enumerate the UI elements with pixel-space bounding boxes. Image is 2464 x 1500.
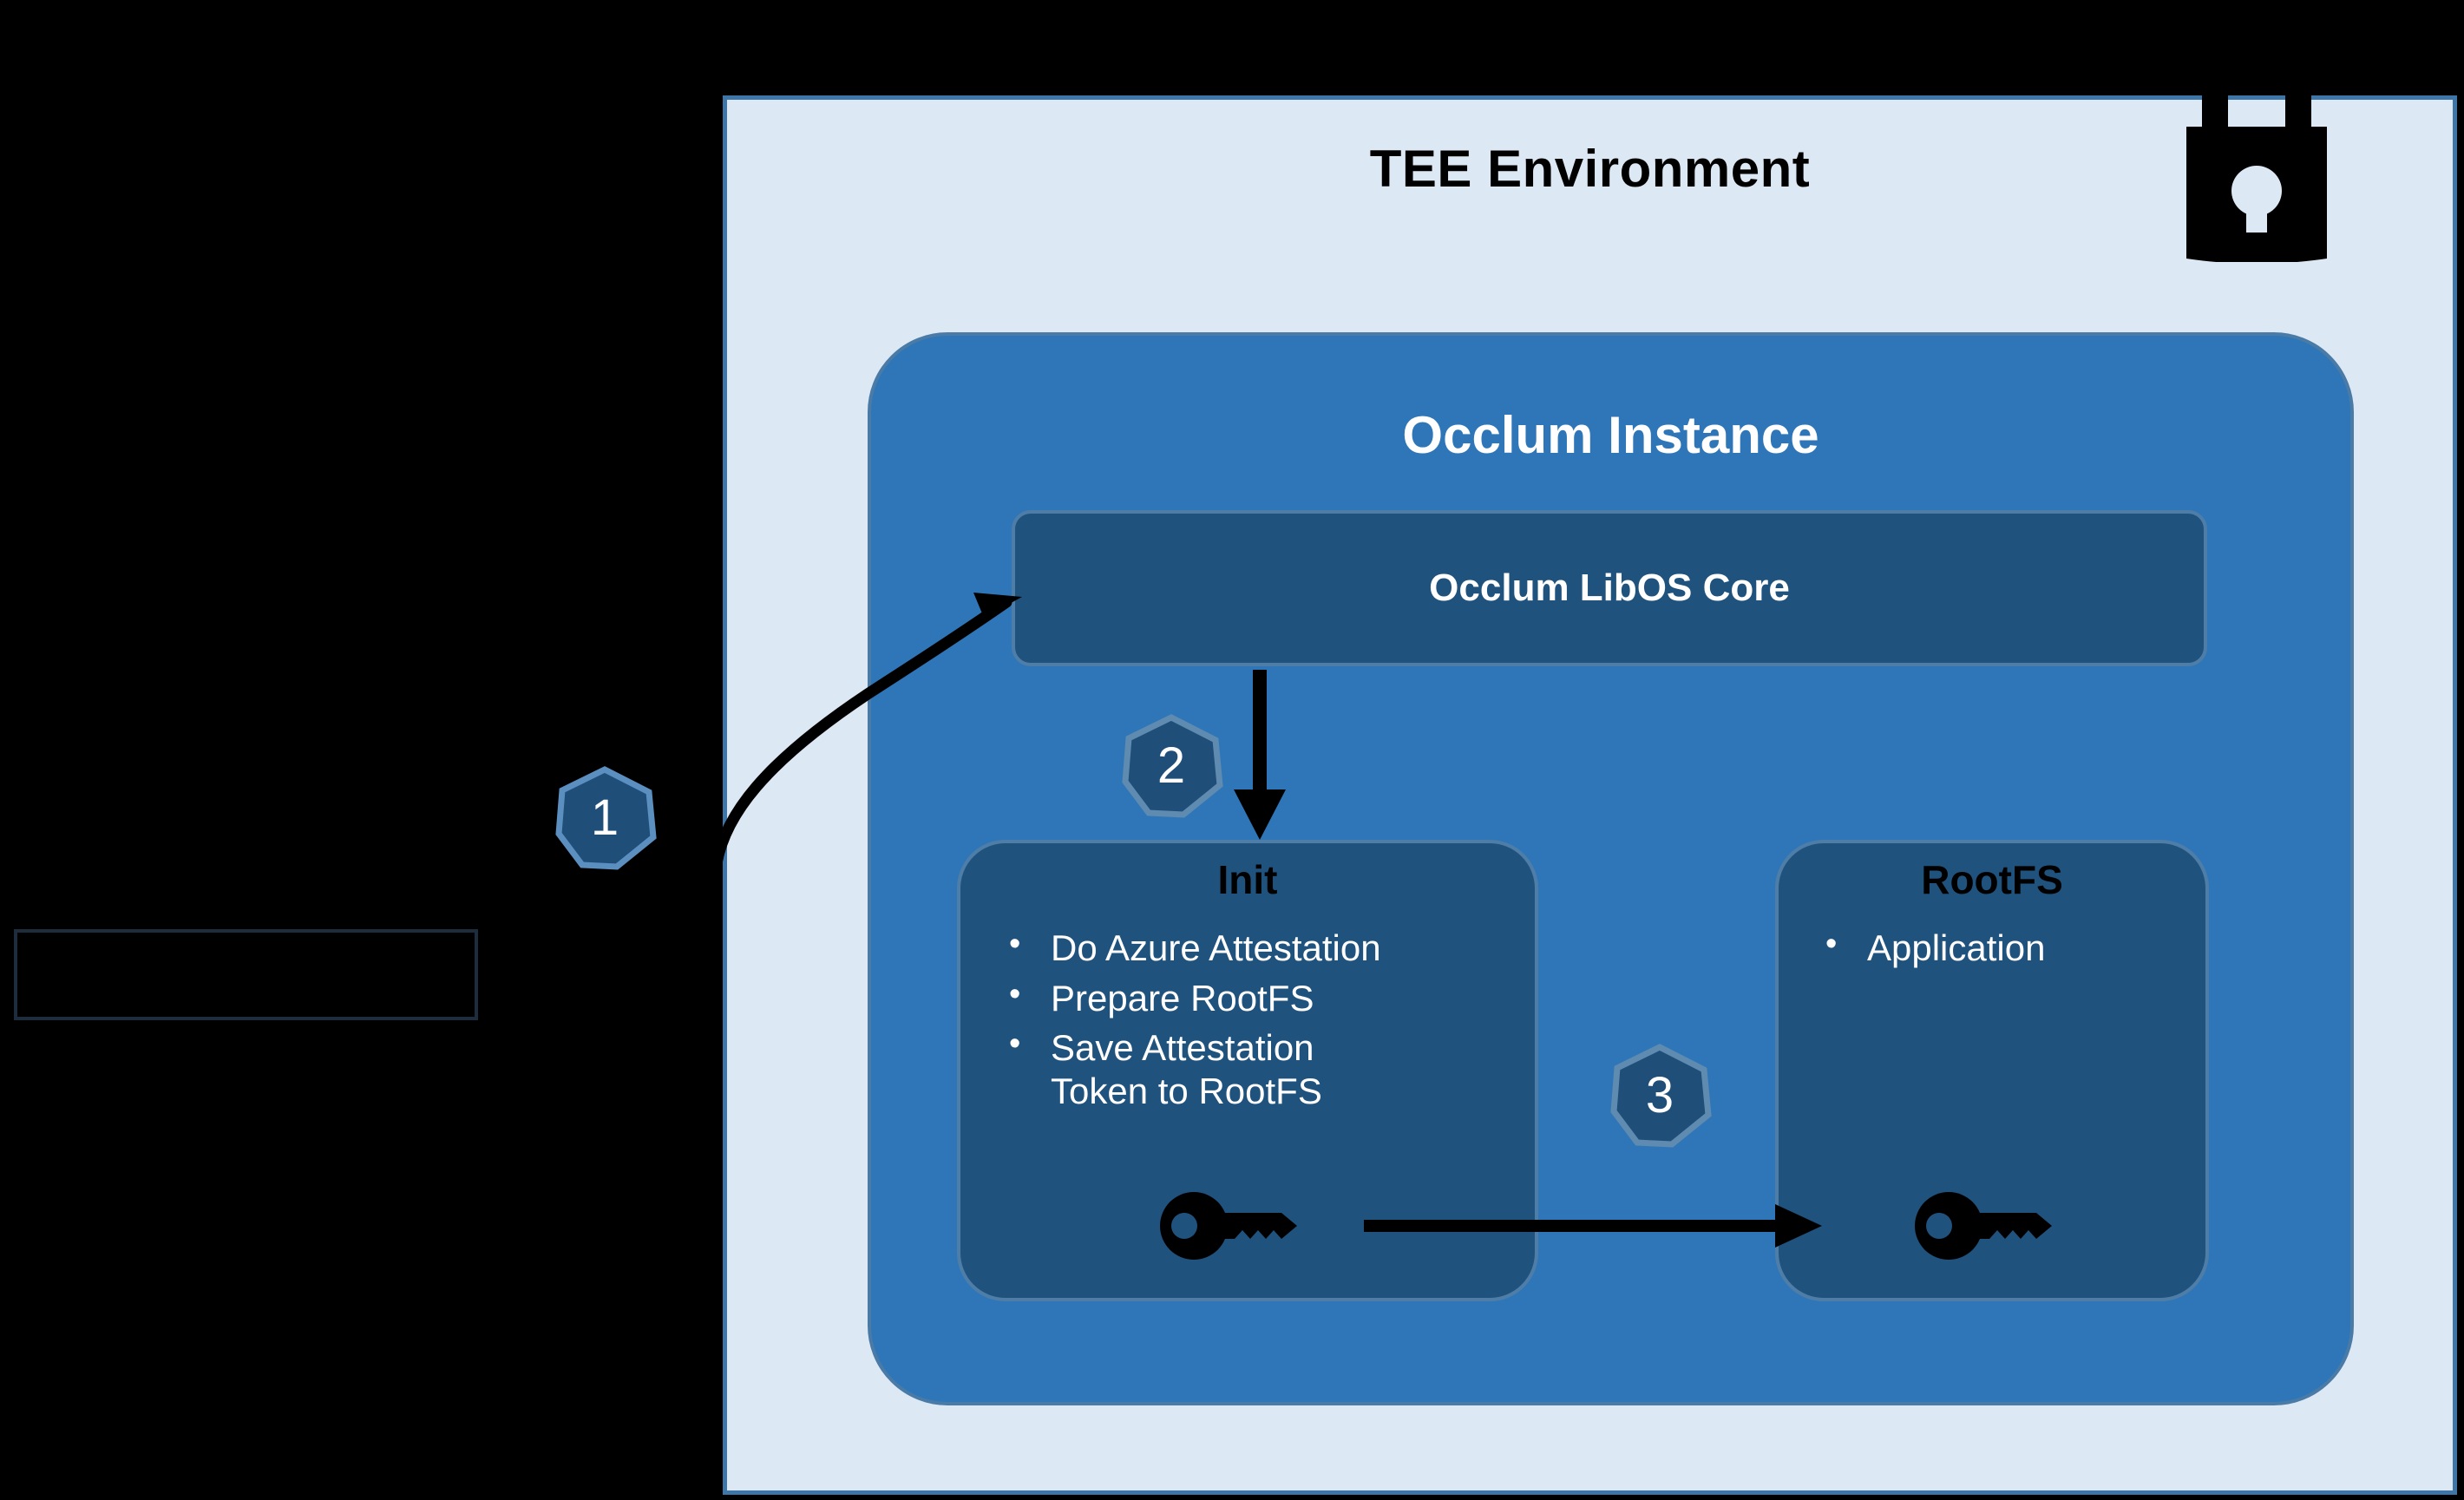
placeholder-rectangle [14, 929, 478, 1020]
step-badge-3: 3 [1608, 1044, 1712, 1148]
rootfs-title: RootFS [1779, 856, 2205, 903]
list-item: Application [1813, 927, 2186, 970]
init-bullet-list: Do Azure Attestation Prepare RootFS Save… [997, 927, 1517, 1119]
lock-icon [2166, 54, 2348, 262]
diagram-canvas: TEE Environment Occlum Instance Occlum L… [0, 0, 2464, 1500]
init-title: Init [960, 856, 1535, 903]
step-badge-2: 2 [1119, 714, 1223, 818]
list-item: Save Attestation Token to RootFS [997, 1026, 1517, 1112]
list-item: Prepare RootFS [997, 977, 1517, 1020]
step-badge-number: 1 [553, 766, 657, 870]
occlum-libos-core-label: Occlum LibOS Core [1015, 514, 2204, 663]
key-icon [1156, 1187, 1320, 1265]
step-badge-number: 2 [1119, 714, 1223, 818]
rootfs-bullet-list: Application [1813, 927, 2186, 977]
step-badge-1: 1 [553, 766, 657, 870]
step-badge-number: 3 [1608, 1044, 1712, 1148]
occlum-instance-title: Occlum Instance [871, 405, 2350, 465]
occlum-libos-core-box: Occlum LibOS Core [1012, 510, 2207, 666]
key-icon [1910, 1187, 2075, 1265]
list-item: Do Azure Attestation [997, 927, 1517, 970]
